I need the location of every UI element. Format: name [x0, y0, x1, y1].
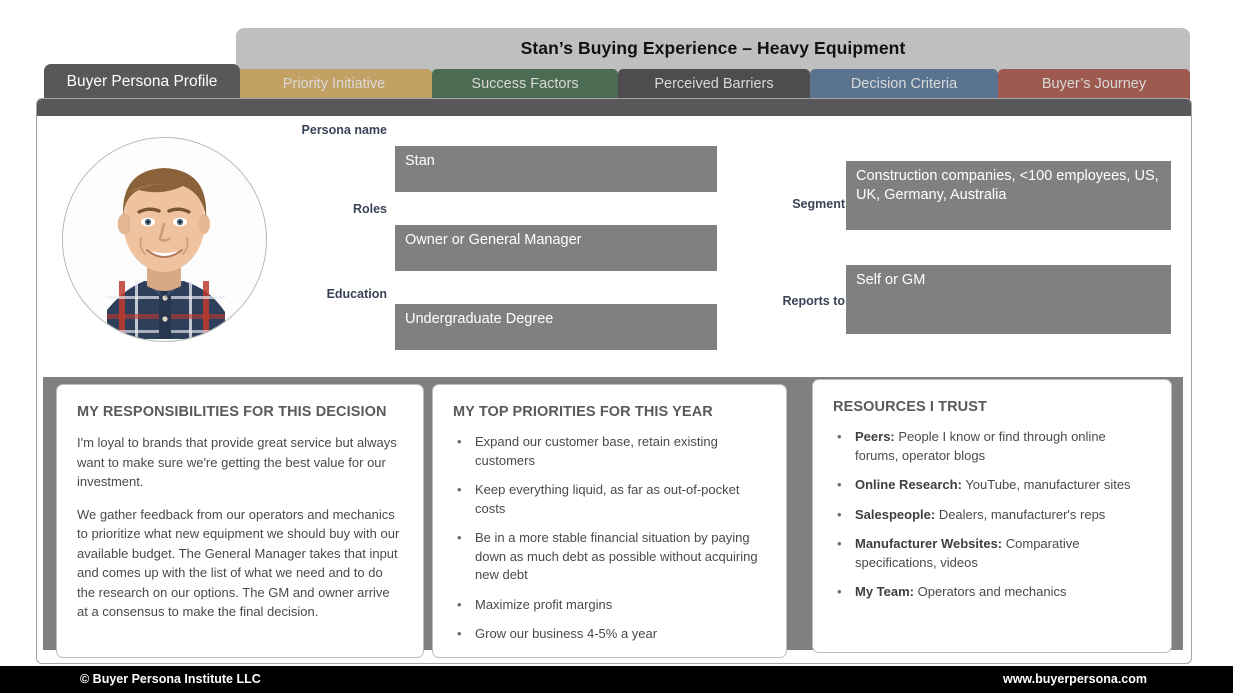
tab-decision-criteria[interactable]: Decision Criteria [810, 69, 998, 100]
list-item-text: Operators and mechanics [914, 584, 1066, 599]
bullet-icon: • [837, 506, 842, 525]
field-value-segment[interactable]: Construction companies, <100 employees, … [846, 161, 1171, 230]
list-item-lead: Online Research: [855, 477, 962, 492]
list-item: •Salespeople: Dealers, manufacturer's re… [833, 506, 1151, 525]
page-title: Stan’s Buying Experience – Heavy Equipme… [236, 38, 1190, 59]
tab-priority-initiative[interactable]: Priority Initiative [236, 69, 432, 100]
frame-top-bar [37, 99, 1191, 116]
field-value-reports-to[interactable]: Self or GM [846, 265, 1171, 334]
list-item-text: Grow our business 4-5% a year [475, 626, 657, 641]
tab-perceived-barriers[interactable]: Perceived Barriers [618, 69, 810, 100]
field-value-persona-name[interactable]: Stan [395, 146, 717, 192]
bullet-icon: • [837, 583, 842, 602]
list-item: •Peers: People I know or find through on… [833, 428, 1151, 465]
bullet-icon: • [457, 433, 462, 452]
tab-label: Success Factors [471, 76, 578, 92]
field-label-persona-name: Persona name [247, 123, 387, 137]
tab-label: Buyer’s Journey [1042, 76, 1146, 92]
panel-priorities: MY TOP PRIORITIES FOR THIS YEAR •Expand … [432, 384, 787, 658]
avatar [62, 137, 267, 342]
field-label-education: Education [247, 287, 387, 301]
list-item-text: YouTube, manufacturer sites [962, 477, 1131, 492]
header-tab-strip: Stan’s Buying Experience – Heavy Equipme… [0, 0, 1233, 112]
list-item: •Manufacturer Websites: Comparative spec… [833, 535, 1151, 572]
footer-website[interactable]: www.buyerpersona.com [1003, 672, 1147, 686]
list-item-text: Be in a more stable financial situation … [475, 530, 758, 582]
list-item: •Maximize profit margins [453, 596, 766, 615]
field-value-roles[interactable]: Owner or General Manager [395, 225, 717, 271]
list-item-lead: Salespeople: [855, 507, 935, 522]
panel-title: MY RESPONSIBILITIES FOR THIS DECISION [77, 404, 403, 420]
field-value-education[interactable]: Undergraduate Degree [395, 304, 717, 350]
bullet-icon: • [457, 596, 462, 615]
panel-resources: RESOURCES I TRUST •Peers: People I know … [812, 379, 1172, 653]
tab-label: Buyer Persona Profile [67, 73, 218, 90]
panel-paragraph: We gather feedback from our operators an… [77, 505, 403, 622]
panel-paragraph: I'm loyal to brands that provide great s… [77, 433, 403, 492]
content-frame: Persona name Stan Roles Owner or General… [36, 98, 1192, 664]
field-label-segment: Segment [737, 197, 845, 211]
bullet-icon: • [837, 428, 842, 447]
field-label-reports-to: Reports to [731, 294, 845, 308]
panel-responsibilities: MY RESPONSIBILITIES FOR THIS DECISION I'… [56, 384, 424, 658]
list-item: •Expand our customer base, retain existi… [453, 433, 766, 470]
list-item: •Grow our business 4-5% a year [453, 625, 766, 644]
resources-list: •Peers: People I know or find through on… [833, 428, 1151, 602]
footer-bar: © Buyer Persona Institute LLC www.buyerp… [0, 666, 1233, 693]
tab-buyer-persona-profile[interactable]: Buyer Persona Profile [44, 64, 240, 100]
bullet-icon: • [457, 481, 462, 500]
tab-label: Priority Initiative [283, 76, 385, 92]
bullet-icon: • [837, 535, 842, 554]
footer-copyright: © Buyer Persona Institute LLC [80, 672, 261, 686]
bullet-icon: • [837, 476, 842, 495]
list-item: •Be in a more stable financial situation… [453, 529, 766, 585]
field-label-roles: Roles [247, 202, 387, 216]
list-item: •Keep everything liquid, as far as out-o… [453, 481, 766, 518]
panel-title: RESOURCES I TRUST [833, 399, 1151, 415]
list-item-lead: Manufacturer Websites: [855, 536, 1002, 551]
tab-success-factors[interactable]: Success Factors [432, 69, 618, 100]
list-item-text: Maximize profit margins [475, 597, 612, 612]
tab-label: Decision Criteria [851, 76, 957, 92]
list-item: •Online Research: YouTube, manufacturer … [833, 476, 1151, 495]
bullet-icon: • [457, 625, 462, 644]
priorities-list: •Expand our customer base, retain existi… [453, 433, 766, 644]
list-item-lead: My Team: [855, 584, 914, 599]
tab-buyers-journey[interactable]: Buyer’s Journey [998, 69, 1190, 100]
bullet-icon: • [457, 529, 462, 548]
tab-label: Perceived Barriers [654, 76, 773, 92]
avatar-photo [63, 138, 264, 339]
panel-title: MY TOP PRIORITIES FOR THIS YEAR [453, 404, 766, 420]
list-item-text: Keep everything liquid, as far as out-of… [475, 482, 739, 516]
list-item-lead: Peers: [855, 429, 895, 444]
list-item-text: Dealers, manufacturer's reps [935, 507, 1105, 522]
list-item: •My Team: Operators and mechanics [833, 583, 1151, 602]
list-item-text: Expand our customer base, retain existin… [475, 434, 718, 468]
